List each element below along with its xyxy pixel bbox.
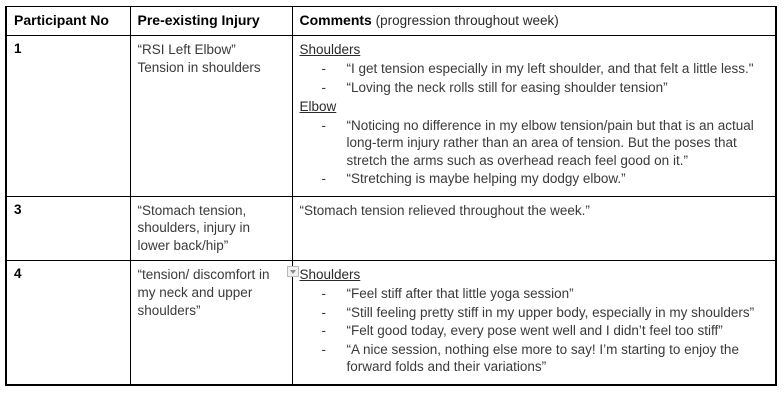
- comment-bullet-item: -“Felt good today, every pose went well …: [300, 322, 769, 340]
- comment-bullet-text: “Noticing no difference in my elbow tens…: [347, 118, 754, 168]
- participant-comments-table: Participant No Pre-existing Injury Comme…: [5, 6, 777, 386]
- bullet-dash-icon: -: [322, 304, 327, 322]
- comment-group: Shoulders-“I get tension especially in m…: [300, 41, 769, 96]
- table-header: Participant No Pre-existing Injury Comme…: [6, 7, 776, 36]
- bullet-dash-icon: -: [322, 341, 327, 359]
- cell-participant-no: 3: [6, 196, 130, 261]
- comment-bullet-item: -“Stretching is maybe helping my dodgy e…: [300, 170, 769, 188]
- pre-existing-injury-value: “tension/ discomfort in my neck and uppe…: [138, 266, 285, 319]
- column-header-participant-no-label: Participant No: [14, 12, 109, 28]
- comment-bullet-list: -“I get tension especially in my left sh…: [300, 60, 769, 96]
- bullet-dash-icon: -: [322, 285, 327, 303]
- pre-existing-injury-value: “Stomach tension, shoulders, injury in l…: [138, 202, 285, 255]
- comment-bullet-text: “I get tension especially in my left sho…: [347, 61, 754, 76]
- comment-bullet-list: -“Noticing no difference in my elbow ten…: [300, 117, 769, 188]
- cell-pre-existing-injury: “Stomach tension, shoulders, injury in l…: [130, 196, 292, 261]
- comment-bullet-text: “Stretching is maybe helping my dodgy el…: [347, 171, 626, 186]
- table-row: 1“RSI Left Elbow” Tension in shouldersSh…: [6, 36, 776, 196]
- table-row: 4“tension/ discomfort in my neck and upp…: [6, 261, 776, 385]
- table-body: 1“RSI Left Elbow” Tension in shouldersSh…: [6, 36, 776, 385]
- bullet-dash-icon: -: [322, 170, 327, 188]
- bullet-dash-icon: -: [322, 322, 327, 340]
- comment-group: Shoulders-“Feel stiff after that little …: [300, 266, 769, 375]
- column-header-comments-label: Comments: [300, 12, 372, 28]
- comment-bullet-item: -“Still feeling pretty stiff in my upper…: [300, 304, 769, 322]
- overflow-dropdown-icon[interactable]: [287, 266, 299, 277]
- bullet-dash-icon: -: [322, 60, 327, 78]
- comment-group-heading: Shoulders: [300, 266, 769, 284]
- table-row: 3“Stomach tension, shoulders, injury in …: [6, 196, 776, 261]
- comment-bullet-item: -“A nice session, nothing else more to s…: [300, 341, 769, 376]
- column-header-comments: Comments (progression throughout week): [292, 7, 776, 36]
- comment-bullet-text: “Loving the neck rolls still for easing …: [347, 80, 668, 95]
- participant-no-value: 4: [14, 266, 22, 281]
- bullet-dash-icon: -: [322, 117, 327, 135]
- table-header-row: Participant No Pre-existing Injury Comme…: [6, 7, 776, 36]
- comment-group-heading: Elbow: [300, 98, 769, 116]
- comment-group-heading: Shoulders: [300, 41, 769, 59]
- comment-bullet-item: -“Feel stiff after that little yoga sess…: [300, 285, 769, 303]
- cell-comments: Shoulders-“Feel stiff after that little …: [292, 261, 776, 385]
- pre-existing-injury-value: “RSI Left Elbow” Tension in shoulders: [138, 41, 285, 76]
- cell-participant-no: 4: [6, 261, 130, 385]
- column-header-participant-no: Participant No: [6, 7, 130, 36]
- participant-no-value: 3: [14, 202, 22, 217]
- column-header-pre-existing-injury: Pre-existing Injury: [130, 7, 292, 36]
- comment-bullet-text: “Felt good today, every pose went well a…: [347, 323, 723, 338]
- comment-bullet-text: “A nice session, nothing else more to sa…: [347, 342, 739, 375]
- column-header-pre-existing-injury-label: Pre-existing Injury: [138, 12, 260, 28]
- comment-bullet-text: “Feel stiff after that little yoga sessi…: [347, 286, 574, 301]
- cell-pre-existing-injury: “RSI Left Elbow” Tension in shoulders: [130, 36, 292, 196]
- participant-no-value: 1: [14, 41, 22, 56]
- comment-bullet-item: -“I get tension especially in my left sh…: [300, 60, 769, 78]
- comment-bullet-item: -“Loving the neck rolls still for easing…: [300, 79, 769, 97]
- cell-pre-existing-injury: “tension/ discomfort in my neck and uppe…: [130, 261, 292, 385]
- column-header-comments-note: (progression throughout week): [372, 13, 559, 28]
- cell-comments: Shoulders-“I get tension especially in m…: [292, 36, 776, 196]
- comment-group: Elbow-“Noticing no difference in my elbo…: [300, 98, 769, 188]
- participant-comments-table-wrapper: Participant No Pre-existing Injury Comme…: [5, 6, 775, 386]
- cell-participant-no: 1: [6, 36, 130, 196]
- cell-comments: “Stomach tension relieved throughout the…: [292, 196, 776, 261]
- comment-text: “Stomach tension relieved throughout the…: [300, 202, 769, 220]
- comment-bullet-list: -“Feel stiff after that little yoga sess…: [300, 285, 769, 376]
- comment-bullet-item: -“Noticing no difference in my elbow ten…: [300, 117, 769, 170]
- bullet-dash-icon: -: [322, 79, 327, 97]
- comment-bullet-text: “Still feeling pretty stiff in my upper …: [347, 305, 755, 320]
